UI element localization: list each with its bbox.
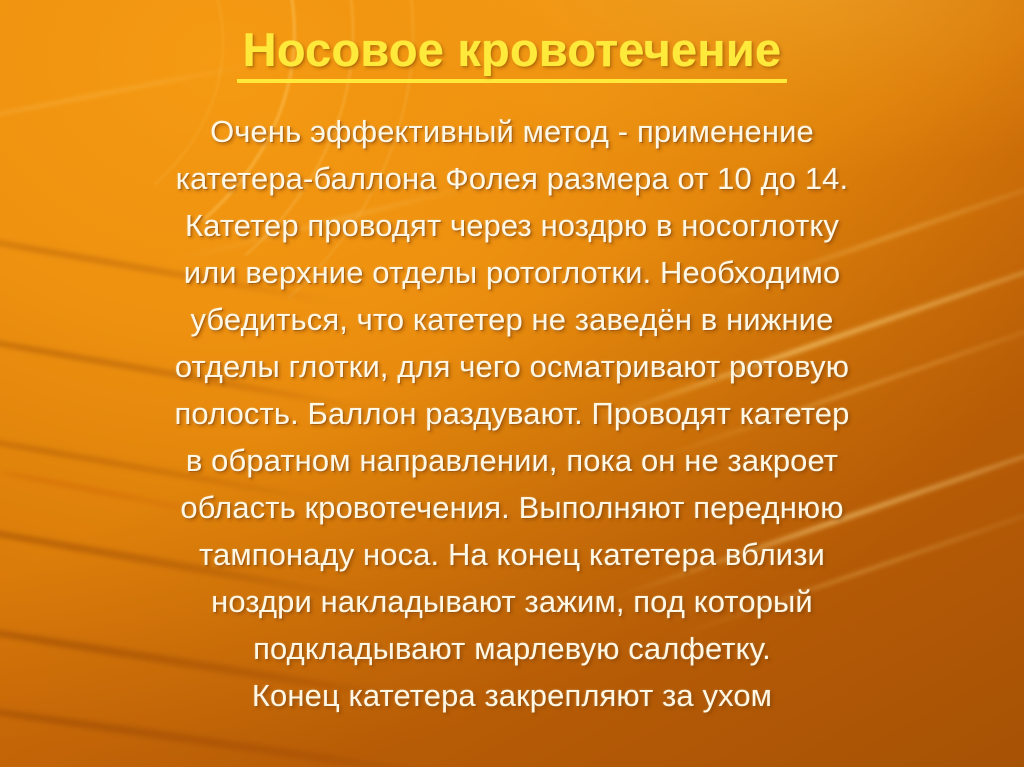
body-line: катетера-баллона Фолея размера от 10 до …	[54, 155, 970, 202]
page-title: Носовое кровотечение	[237, 22, 788, 83]
title-container: Носовое кровотечение	[0, 22, 1024, 83]
body-line: в обратном направлении, пока он не закро…	[54, 437, 970, 484]
body-line: тампонаду носа. На конец катетера вблизи	[54, 531, 970, 578]
body-line: Катетер проводят через ноздрю в носоглот…	[54, 202, 970, 249]
body-line: подкладывают марлевую салфетку.	[54, 625, 970, 672]
body-line: Очень эффективный метод - применение	[54, 108, 970, 155]
body-line: полость. Баллон раздувают. Проводят кате…	[54, 390, 970, 437]
body-line: или верхние отделы ротоглотки. Необходим…	[54, 249, 970, 296]
body-line: ноздри накладывают зажим, под который	[54, 578, 970, 625]
body-line: убедиться, что катетер не заведён в нижн…	[54, 296, 970, 343]
body-line: отделы глотки, для чего осматривают рото…	[54, 343, 970, 390]
body-line: Конец катетера закрепляют за ухом	[54, 672, 970, 719]
presentation-slide: Носовое кровотечение Очень эффективный м…	[0, 0, 1024, 767]
body-line: область кровотечения. Выполняют переднюю	[54, 484, 970, 531]
slide-body-text: Очень эффективный метод - применение кат…	[54, 108, 970, 719]
